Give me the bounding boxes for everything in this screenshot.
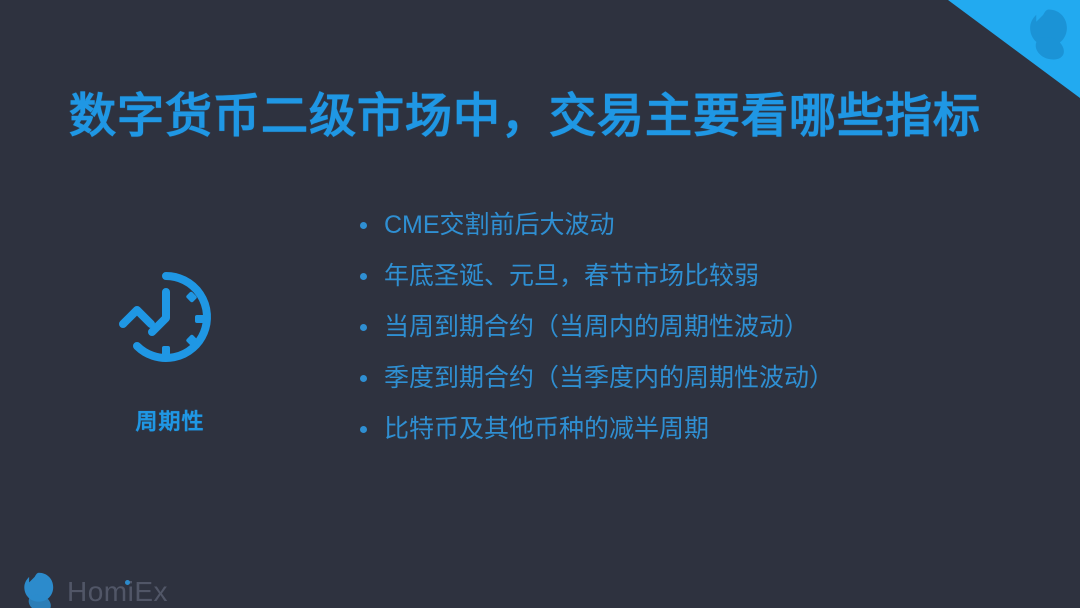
bullet-dot-icon (360, 426, 367, 433)
bullet-dot-icon (360, 375, 367, 382)
list-item-label: CME交割前后大波动 (384, 208, 615, 242)
bullet-list: CME交割前后大波动 年底圣诞、元旦，春节市场比较弱 当周到期合约（当周内的周期… (360, 208, 834, 463)
brand-dot-icon (125, 580, 130, 585)
cycle-clock-icon (111, 262, 229, 374)
list-item-label: 年底圣诞、元旦，春节市场比较弱 (384, 259, 759, 293)
list-item: 当周到期合约（当周内的周期性波动） (360, 310, 834, 361)
list-item-label: 当周到期合约（当周内的周期性波动） (384, 310, 809, 344)
page-title: 数字货币二级市场中，交易主要看哪些指标 (69, 88, 981, 144)
bullet-dot-icon (360, 222, 367, 229)
brand-name: HomiEx (67, 576, 168, 607)
list-item: 年底圣诞、元旦，春节市场比较弱 (360, 259, 834, 310)
bullet-dot-icon (360, 273, 367, 280)
list-item: 季度到期合约（当季度内的周期性波动） (360, 361, 834, 412)
cycle-icon-caption: 周期性 (95, 404, 245, 436)
corner-decoration (948, 0, 1080, 98)
list-item: CME交割前后大波动 (360, 208, 834, 259)
list-item-label: 季度到期合约（当季度内的周期性波动） (384, 361, 834, 395)
brand-wordmark: HomiEx (67, 576, 168, 608)
bullet-dot-icon (360, 324, 367, 331)
list-item: 比特币及其他币种的减半周期 (360, 412, 834, 463)
brand-watermark: HomiEx (14, 570, 168, 608)
homiex-droplets-icon (1017, 6, 1073, 62)
cycle-icon-block: 周期性 (95, 262, 245, 436)
presentation-slide: 数字货币二级市场中，交易主要看哪些指标 周期性 (0, 0, 1080, 608)
list-item-label: 比特币及其他币种的减半周期 (384, 412, 709, 446)
homiex-logo-icon (14, 570, 58, 608)
